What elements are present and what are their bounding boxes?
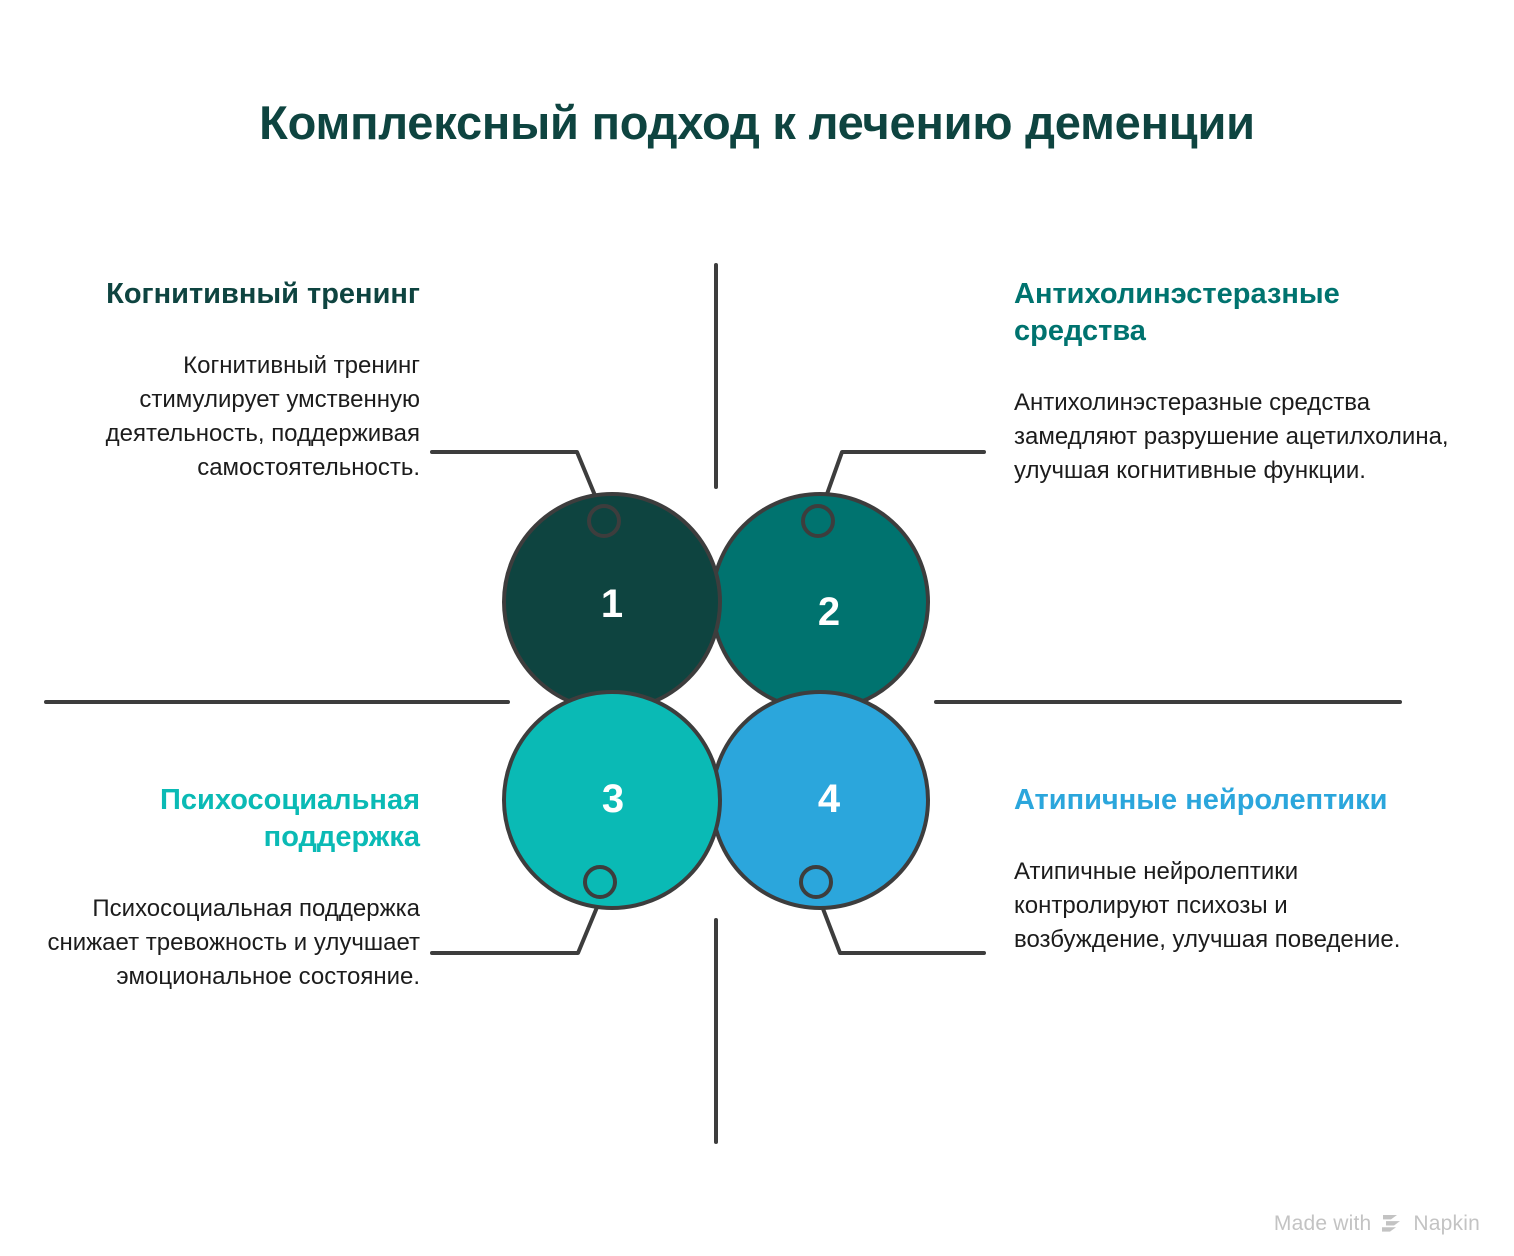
napkin-brand-label: Napkin — [1413, 1212, 1480, 1236]
quadrant-cognitive-training: Когнитивный тренинг Когнитивный тренинг … — [46, 276, 420, 485]
quadrant-2-heading: Антихолинэстеразные средства — [1014, 276, 1450, 350]
circle-number-2: 2 — [801, 584, 857, 640]
quadrant-anticholinesterase: Антихолинэстеразные средства Антихолинэс… — [1014, 276, 1450, 488]
quadrant-psychosocial-support: Психосоциальная поддержка Психосоциальна… — [46, 782, 420, 994]
quadrant-1-heading: Когнитивный тренинг — [46, 276, 420, 313]
venn-diagram — [0, 0, 1514, 1256]
quadrant-atypical-antipsychotics: Атипичные нейролептики Атипичные нейроле… — [1014, 782, 1414, 957]
quadrant-2-body: Антихолинэстеразные средства замедляют р… — [1014, 386, 1450, 488]
made-with-label: Made with — [1274, 1212, 1372, 1236]
quadrant-1-body: Когнитивный тренинг стимулирует умственн… — [46, 349, 420, 485]
circle-number-4: 4 — [801, 771, 857, 827]
circle-number-3: 3 — [585, 771, 641, 827]
quadrant-3-body: Психосоциальная поддержка снижает тревож… — [46, 892, 420, 994]
circle-number-1: 1 — [584, 576, 640, 632]
made-with-napkin-footer: Made with Napkin — [1274, 1212, 1480, 1236]
napkin-logo-icon — [1380, 1213, 1404, 1235]
quadrant-4-heading: Атипичные нейролептики — [1014, 782, 1414, 819]
quadrant-3-heading: Психосоциальная поддержка — [46, 782, 420, 856]
quadrant-4-body: Атипичные нейролептики контролируют псих… — [1014, 855, 1414, 957]
